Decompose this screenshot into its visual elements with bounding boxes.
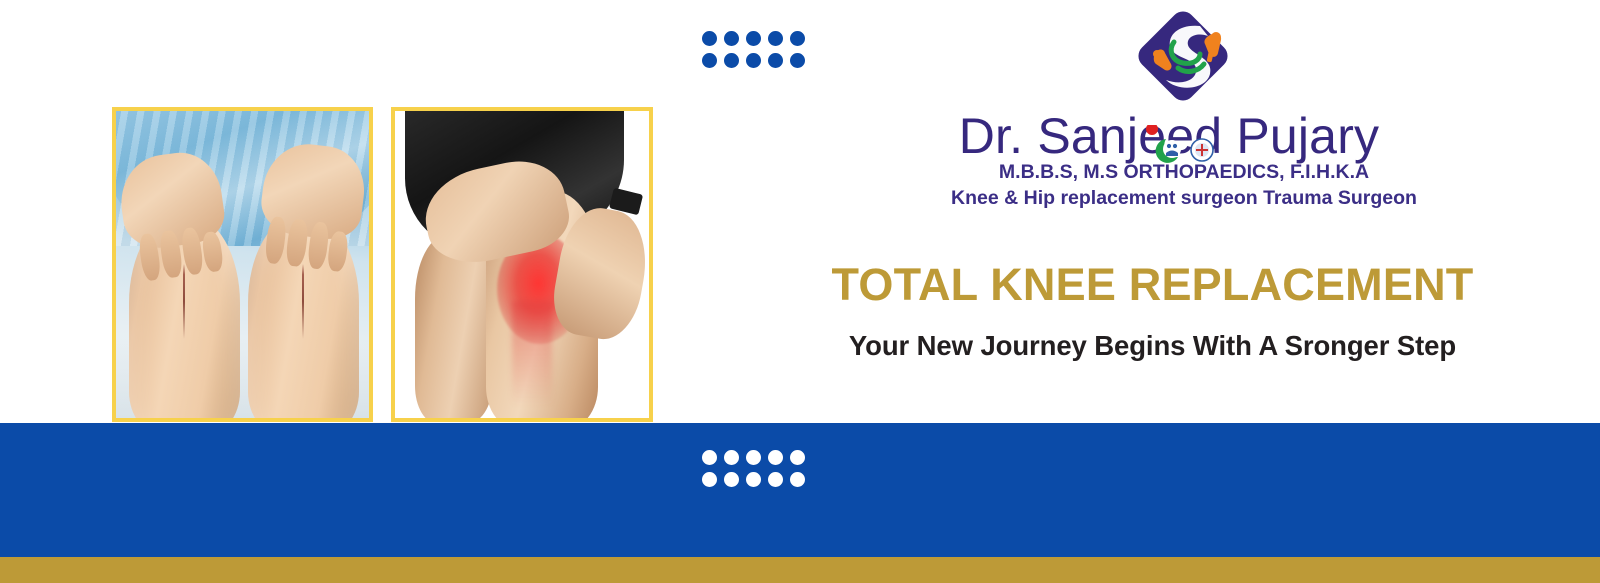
dot xyxy=(724,450,739,465)
left-knee-scar xyxy=(183,264,185,339)
knee-pain-photo xyxy=(391,107,653,422)
right-knee-scar xyxy=(302,264,304,339)
post-op-photo-content xyxy=(116,111,369,418)
dot xyxy=(702,472,717,487)
blue-medical-seal-badge xyxy=(1191,139,1213,161)
doctor-degrees: M.B.B.S, M.S ORTHOPAEDICS, F.I.H.K.A xyxy=(920,160,1448,184)
dot xyxy=(746,450,761,465)
knee-pain-glow-streak xyxy=(512,301,553,405)
dot xyxy=(790,472,805,487)
headline-subtitle: Your New Journey Begins With A Sronger S… xyxy=(780,328,1525,364)
dot xyxy=(746,31,761,46)
sp-diamond-monogram-logo xyxy=(1128,6,1238,106)
doctor-specialty: Knee & Hip replacement surgeon Trauma Su… xyxy=(900,186,1468,210)
dot xyxy=(790,31,805,46)
dot xyxy=(724,53,739,68)
bottom-gold-band xyxy=(0,557,1600,583)
dot xyxy=(768,450,783,465)
dot xyxy=(746,53,761,68)
dot xyxy=(790,53,805,68)
post-operative-knees-photo xyxy=(112,107,373,422)
dot xyxy=(746,472,761,487)
dot xyxy=(768,472,783,487)
dot xyxy=(702,53,717,68)
dot xyxy=(724,31,739,46)
logo-svg xyxy=(1128,6,1238,106)
knee-pain-photo-content xyxy=(395,111,649,418)
dot xyxy=(768,53,783,68)
dot xyxy=(790,450,805,465)
dot xyxy=(724,472,739,487)
headline-title: TOTAL KNEE REPLACEMENT xyxy=(780,258,1525,312)
red-dot-badge xyxy=(1146,125,1158,135)
banner-root: Dr. Sanjeed Pujary M.B.B.S, M.S ORTHOPAE… xyxy=(0,0,1600,583)
dot xyxy=(702,450,717,465)
dot xyxy=(702,31,717,46)
dot xyxy=(768,31,783,46)
dot-grid-top xyxy=(702,31,812,75)
dot-grid-bottom xyxy=(702,450,812,494)
